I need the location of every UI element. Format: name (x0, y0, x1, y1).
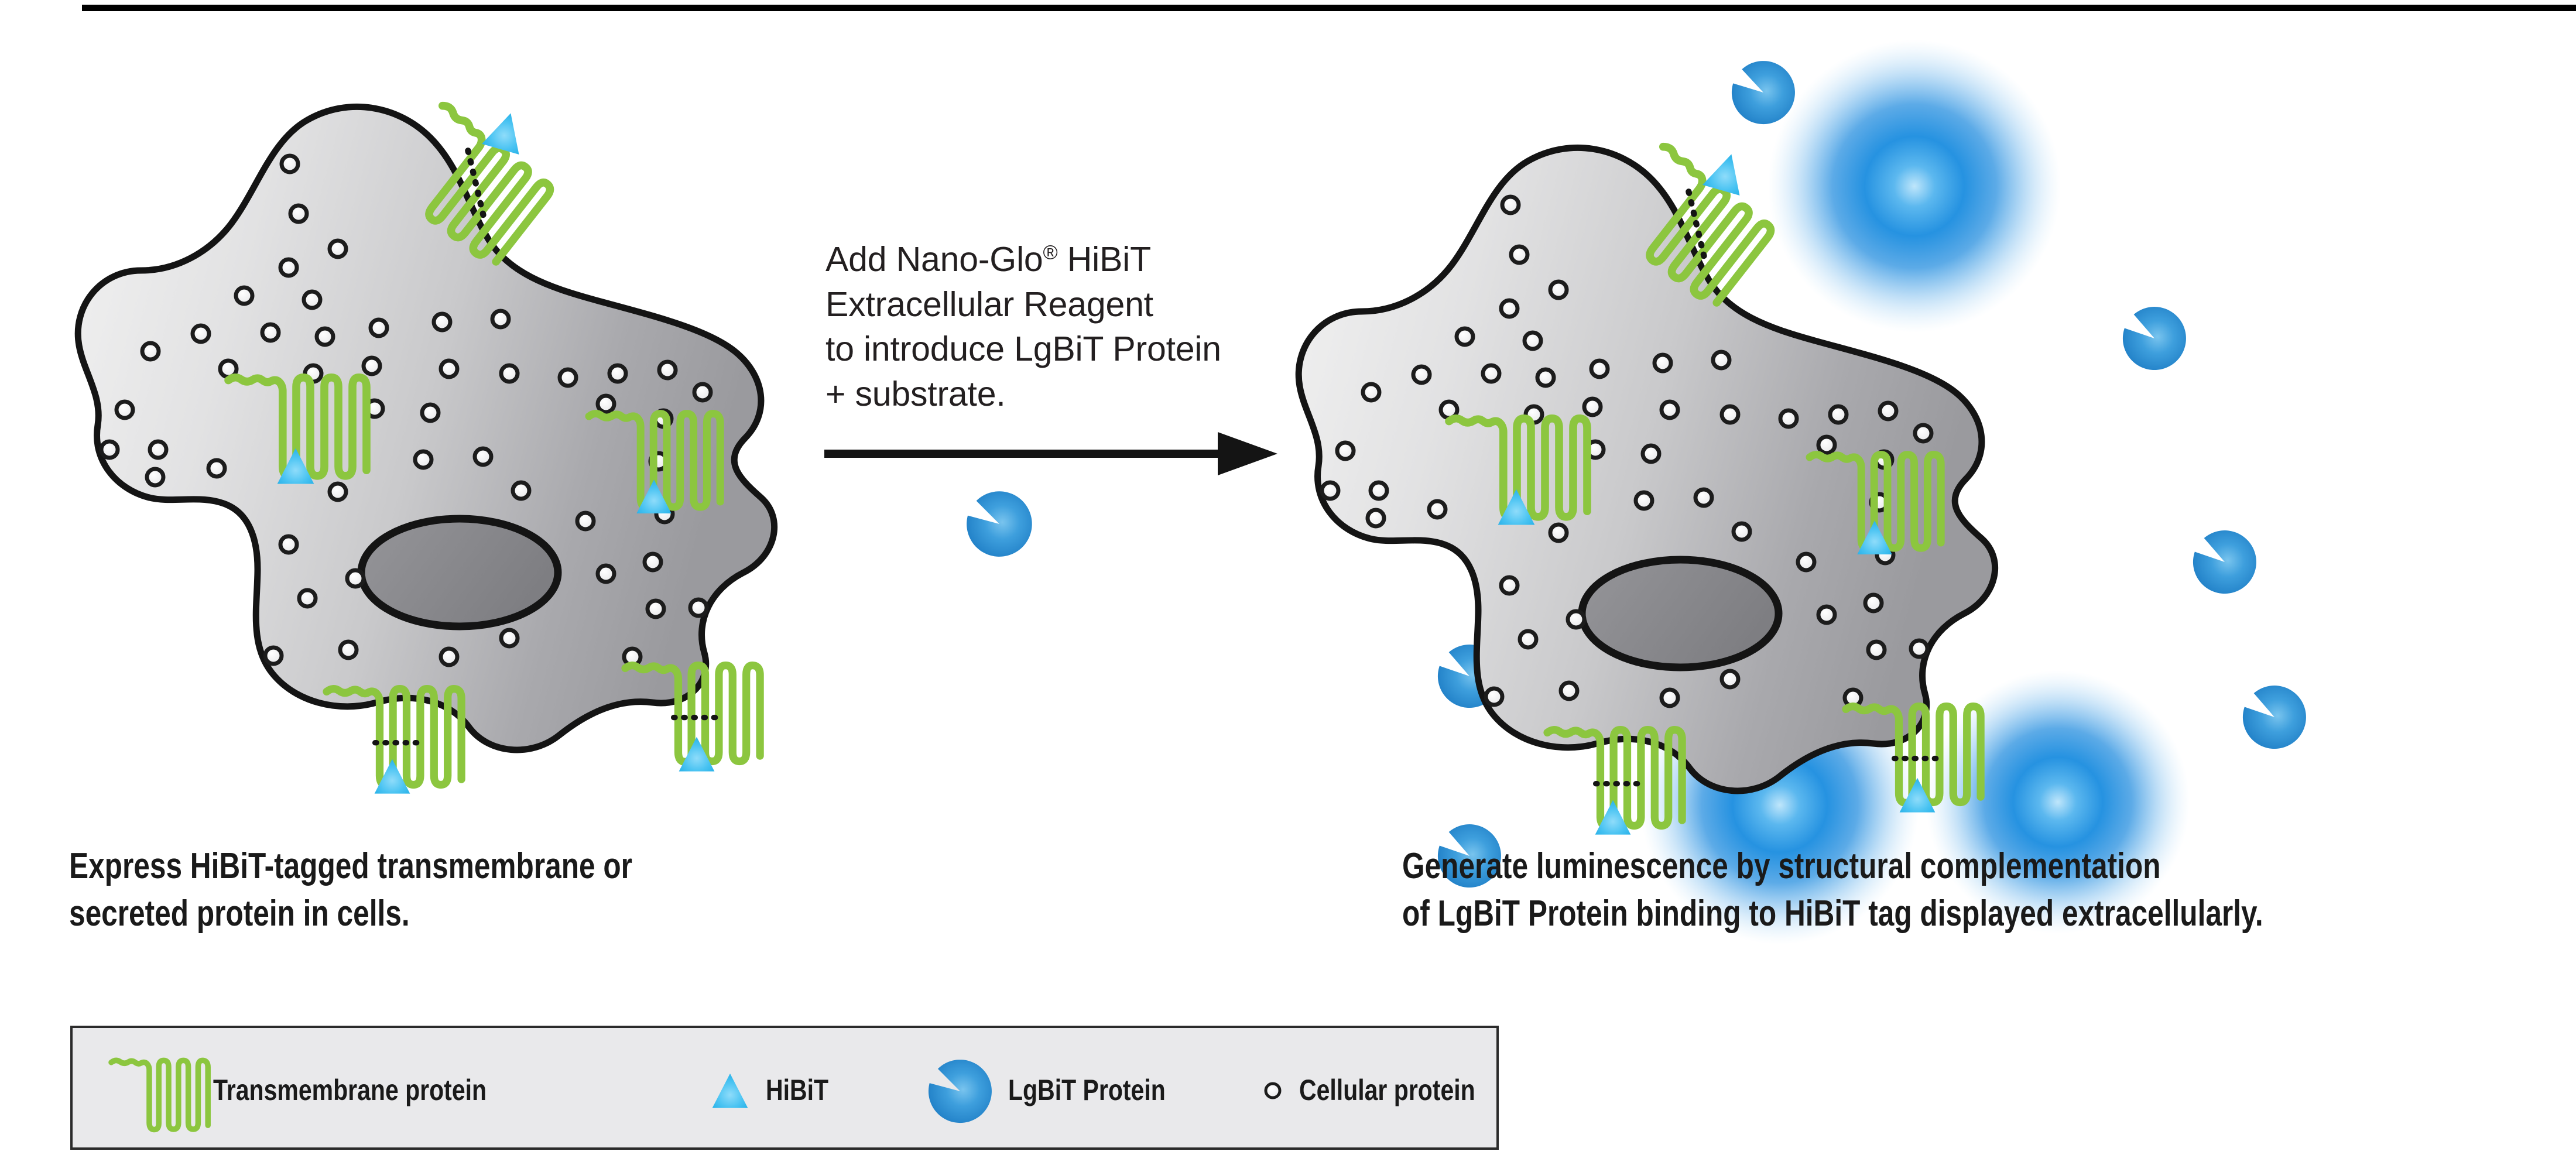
legend-item-hibit: HiBiT (705, 1028, 842, 1152)
instruction-line-3: to introduce LgBiT Protein (825, 327, 1294, 372)
caption-right-line-1: Generate luminescence by structural comp… (1402, 843, 2573, 890)
instruction-line-1: Add Nano-Glo® HiBiT (825, 237, 1294, 282)
diagram-canvas: Add Nano-Glo® HiBiT Extracellular Reagen… (0, 0, 2576, 1165)
instruction-text: Add Nano-Glo® HiBiT Extracellular Reagen… (825, 237, 1294, 417)
caption-right: Generate luminescence by structural comp… (1402, 843, 2573, 937)
transmembrane-protein-icon (102, 1037, 213, 1143)
legend-label-lgbit-protein: LgBiT Protein (1008, 1073, 1166, 1107)
legend-label-transmembrane-protein: Transmembrane protein (213, 1073, 487, 1107)
legend-item-transmembrane-protein: Transmembrane protein (102, 1028, 547, 1152)
instruction-line-2: Extracellular Reagent (825, 282, 1294, 327)
instruction-line-4: + substrate. (825, 372, 1294, 417)
lgbit-protein-6 (2241, 683, 2308, 751)
lgbit-protein-4 (2121, 304, 2188, 372)
caption-left-line-1: Express HiBiT-tagged transmembrane or (69, 843, 1006, 890)
legend-label-cellular-protein: Cellular protein (1299, 1073, 1475, 1107)
instruction-line-1-prefix: Add Nano-Glo (825, 240, 1043, 279)
legend-item-cellular-protein: Cellular protein (1258, 1028, 1514, 1152)
instruction-line-1-suffix: HiBiT (1058, 240, 1151, 279)
hibit-triangle-icon (705, 1065, 755, 1115)
right-cell-illustration (1276, 18, 2213, 896)
caption-left: Express HiBiT-tagged transmembrane or se… (69, 843, 1006, 937)
legend-label-hibit: HiBiT (766, 1073, 828, 1107)
lgbit-protein-5 (2191, 528, 2258, 595)
hibit-tag-1 (1703, 149, 1750, 196)
legend-item-lgbit-protein: LgBiT Protein (914, 1028, 1200, 1152)
lgbit-protein-icon (914, 1037, 1002, 1143)
nucleus (1582, 560, 1779, 667)
top-divider-rule (82, 5, 2576, 11)
legend: Transmembrane protein HiBiT LgBi (70, 1026, 1499, 1150)
lgbit-protein-free-center (934, 460, 1063, 588)
left-cell-illustration (56, 94, 787, 831)
nucleus (361, 519, 558, 626)
registered-trademark-icon: ® (1043, 241, 1057, 263)
caption-right-line-2: of LgBiT Protein binding to HiBiT tag di… (1402, 890, 2573, 938)
hibit-tag-1 (482, 108, 529, 155)
caption-left-line-2: secreted protein in cells. (69, 890, 1006, 938)
cellular-protein-icon (1258, 1075, 1287, 1105)
glow-site-1 (1768, 40, 2061, 333)
